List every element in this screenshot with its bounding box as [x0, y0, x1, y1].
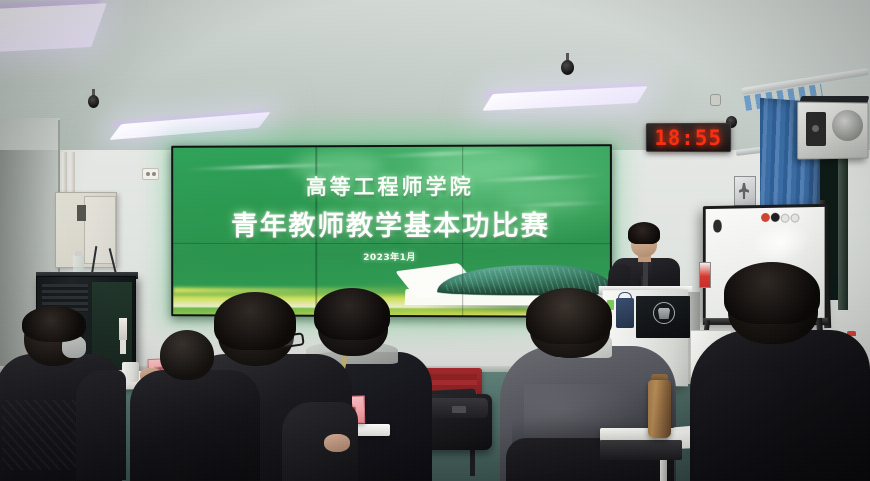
- attendee-foreground-right: [690, 262, 870, 481]
- laptop[interactable]: [600, 440, 682, 460]
- ceiling-light-panel: [0, 3, 107, 53]
- clock-time-text: 18:55: [655, 125, 723, 149]
- ceiling-device-icon: [561, 60, 574, 75]
- whiteboard-magnet-icon: [781, 214, 790, 223]
- slide-title: 高等工程师学院: [173, 170, 610, 201]
- socket-hole-icon: [152, 172, 156, 176]
- attendee-foreground-left: [0, 310, 122, 481]
- slide-date: 2023年1月: [173, 250, 610, 263]
- presenter-hair: [628, 222, 660, 244]
- attendee-shoulder: [76, 370, 126, 480]
- presenter-tie: [643, 262, 648, 286]
- ceiling-device-icon: [88, 95, 99, 108]
- speaker-woofer-icon: [832, 110, 863, 141]
- thermos-bottle: [648, 380, 671, 438]
- attendee-hair: [22, 306, 86, 342]
- attendee-hair: [526, 288, 612, 344]
- attendee-arm: [694, 372, 784, 481]
- electrical-cabinet-label: [77, 205, 86, 221]
- whiteboard-magnet-icon: [713, 220, 722, 233]
- attendee-mid-left: [130, 330, 260, 481]
- whiteboard-magnet-icon: [791, 213, 800, 222]
- bottle-cap: [75, 251, 82, 256]
- attendee-hand: [324, 434, 350, 452]
- wall-socket[interactable]: [142, 168, 159, 180]
- ceiling-sensor-icon: [710, 94, 721, 106]
- attendee-head: [160, 330, 214, 380]
- speaker-dot-icon: [812, 125, 819, 132]
- jacket-pattern: [2, 400, 82, 470]
- whiteboard-magnet-icon: [761, 213, 770, 222]
- slide-subtitle: 青年教师教学基本功比赛: [173, 204, 610, 243]
- lecture-hall-photo: 高等工程师学院 青年教师教学基本功比赛 2023年1月 18:55: [0, 0, 870, 481]
- socket-hole-icon: [146, 172, 150, 176]
- attendee-torso: [130, 370, 260, 481]
- whiteboard-glare: [753, 222, 815, 266]
- bag-buckle-icon: [452, 406, 466, 413]
- whiteboard-magnet-icon: [771, 213, 780, 222]
- digital-clock: 18:55: [646, 123, 731, 152]
- attendee-hair: [724, 262, 820, 324]
